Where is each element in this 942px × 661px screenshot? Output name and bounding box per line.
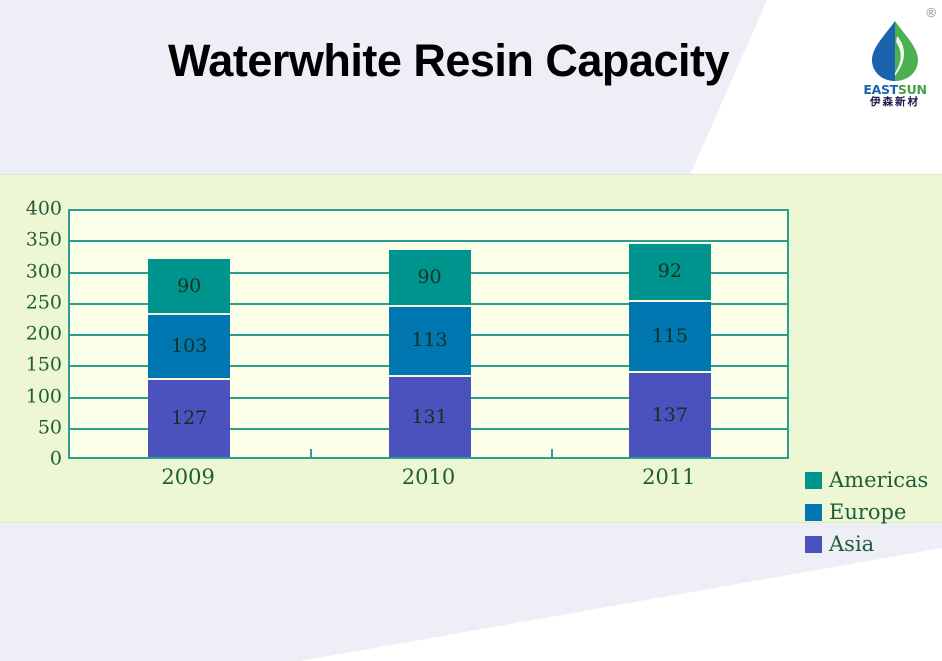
bar-column[interactable]: 13711592 — [629, 242, 711, 457]
slide-canvas: Waterwhite Resin Capacity ® EASTSUN 伊森新材… — [0, 0, 942, 661]
bar-value-label: 113 — [411, 331, 447, 350]
y-axis-tick: 100 — [6, 387, 62, 406]
registered-trademark-icon: ® — [926, 6, 936, 19]
x-axis-tickmark — [310, 449, 312, 457]
bar-segment-americas[interactable]: 92 — [629, 242, 711, 300]
bar-segment-americas[interactable]: 90 — [148, 257, 230, 313]
legend-label: Asia — [829, 534, 874, 555]
legend-item-americas[interactable]: Americas — [805, 470, 928, 491]
bar-segment-asia[interactable]: 137 — [629, 371, 711, 457]
chart-legend: AmericasEuropeAsia — [805, 470, 928, 566]
bar-segment-asia[interactable]: 131 — [389, 375, 471, 457]
y-axis-tick: 150 — [6, 356, 62, 375]
bar-column[interactable]: 13111390 — [389, 248, 471, 457]
x-axis-tick-labels: 200920102011 — [68, 467, 789, 507]
plot-area: 127103901311139013711592 — [68, 209, 789, 459]
logo-wordmark-sun: SUN — [898, 82, 927, 97]
y-axis-tick: 250 — [6, 293, 62, 312]
y-axis-tick: 50 — [6, 418, 62, 437]
bar-value-label: 92 — [658, 262, 682, 281]
x-axis-tick: 2010 — [364, 467, 494, 488]
bar-value-label: 137 — [652, 406, 688, 425]
x-axis-tickmark — [551, 449, 553, 457]
bar-column[interactable]: 12710390 — [148, 257, 230, 457]
bar-value-label: 90 — [177, 277, 201, 296]
legend-item-europe[interactable]: Europe — [805, 502, 928, 523]
x-axis-tick: 2011 — [604, 467, 734, 488]
y-axis-tick-labels: 400350300250200150100500 — [6, 175, 62, 522]
bar-segment-americas[interactable]: 90 — [389, 248, 471, 304]
bar-segment-europe[interactable]: 103 — [148, 313, 230, 377]
bar-segment-asia[interactable]: 127 — [148, 378, 230, 457]
legend-label: Europe — [829, 502, 906, 523]
water-droplet-icon — [866, 20, 924, 82]
logo-wordmark: EASTSUN — [852, 84, 938, 97]
eastsun-logo: ® EASTSUN 伊森新材 — [852, 6, 938, 110]
legend-item-asia[interactable]: Asia — [805, 534, 928, 555]
y-axis-tick: 350 — [6, 231, 62, 250]
logo-wordmark-east: EAST — [863, 82, 898, 97]
y-axis-tick: 400 — [6, 200, 62, 219]
background-wedge-top — [0, 0, 942, 175]
bar-value-label: 131 — [411, 408, 447, 427]
chart-panel: Kt 400350300250200150100500 127103901311… — [0, 174, 942, 523]
y-axis-tick: 200 — [6, 325, 62, 344]
bar-segment-europe[interactable]: 115 — [629, 300, 711, 372]
y-axis-tick: 0 — [6, 450, 62, 469]
bar-segment-europe[interactable]: 113 — [389, 305, 471, 376]
bar-value-label: 115 — [652, 327, 688, 346]
legend-swatch-icon — [805, 472, 822, 489]
bar-value-label: 127 — [171, 409, 207, 428]
legend-swatch-icon — [805, 536, 822, 553]
page-title: Waterwhite Resin Capacity — [168, 37, 788, 84]
logo-wordmark-chinese: 伊森新材 — [852, 97, 938, 108]
bar-value-label: 90 — [417, 268, 441, 287]
background-wedge-bottom — [0, 520, 942, 661]
bar-value-label: 103 — [171, 337, 207, 356]
legend-label: Americas — [829, 470, 928, 491]
legend-swatch-icon — [805, 504, 822, 521]
y-axis-tick: 300 — [6, 262, 62, 281]
x-axis-tick: 2009 — [123, 467, 253, 488]
